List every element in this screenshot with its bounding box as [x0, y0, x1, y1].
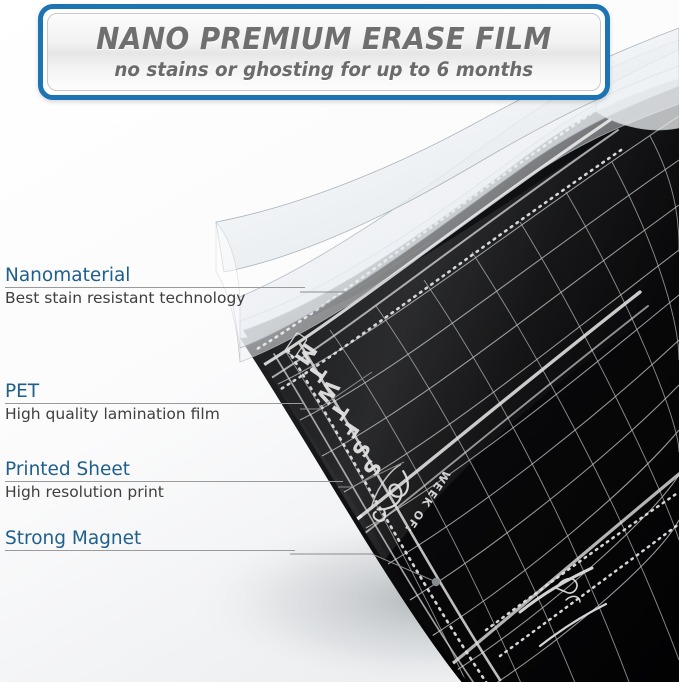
- callout-rule: [5, 481, 343, 482]
- callout-heading: Printed Sheet: [5, 460, 343, 479]
- callout-nanomaterial: Nanomaterial Best stain resistant techno…: [5, 266, 305, 308]
- product-infographic: M T W T F S S WEEK OF:: [0, 0, 679, 682]
- callout-pet: PET High quality lamination film: [5, 382, 305, 424]
- callout-rule: [5, 403, 305, 404]
- banner-title: NANO PREMIUM ERASE FILM: [96, 25, 552, 55]
- callout-heading: Strong Magnet: [5, 529, 295, 548]
- callout-printed-sheet: Printed Sheet High resolution print: [5, 460, 343, 502]
- callout-rule: [5, 287, 305, 288]
- callout-rule: [5, 550, 295, 551]
- header-banner: NANO PREMIUM ERASE FILM no stains or gho…: [38, 4, 610, 100]
- callout-heading: PET: [5, 382, 305, 401]
- banner-subtitle: no stains or ghosting for up to 6 months: [115, 60, 534, 80]
- callout-subtitle: High resolution print: [5, 484, 343, 502]
- callout-strong-magnet: Strong Magnet: [5, 529, 295, 553]
- callout-heading: Nanomaterial: [5, 266, 305, 285]
- callout-subtitle: High quality lamination film: [5, 406, 305, 424]
- callout-subtitle: Best stain resistant technology: [5, 290, 305, 308]
- leader-endpoint-dot: [432, 578, 440, 586]
- header-banner-inner: NANO PREMIUM ERASE FILM no stains or gho…: [47, 13, 601, 91]
- product-illustration: M T W T F S S WEEK OF:: [0, 0, 679, 682]
